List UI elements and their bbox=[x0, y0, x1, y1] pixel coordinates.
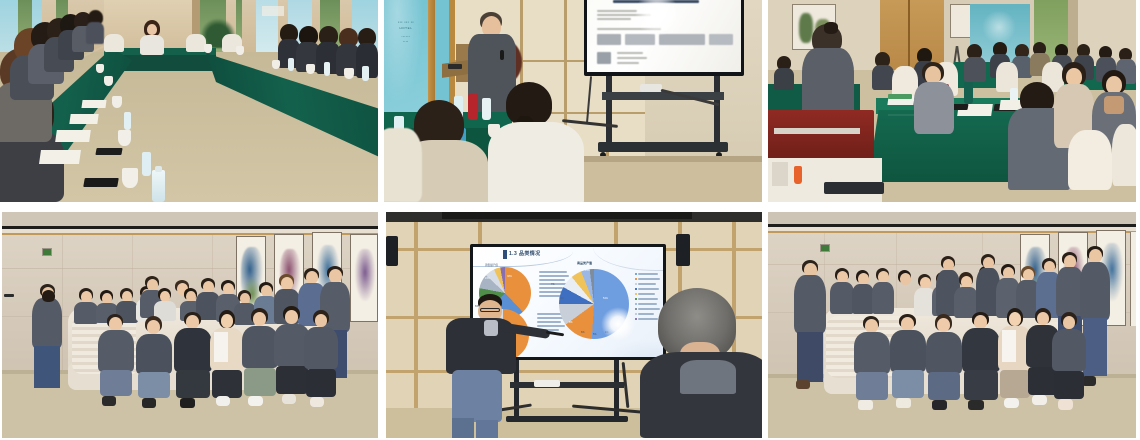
photo-bottom-right[interactable] bbox=[768, 212, 1136, 438]
hotel-sign-text-en: HOTEL bbox=[388, 26, 424, 30]
chart-2-title: 商品类产值 bbox=[577, 261, 592, 265]
photo-gallery: ▪▪▪ ▪▪▪ ▪▪ HOTEL ▪▪▪▪▪▪ ▪▪▪▪ bbox=[0, 0, 1140, 440]
photo-bottom-left[interactable] bbox=[2, 212, 378, 438]
slide-title: 1.3 品类情况 bbox=[509, 250, 541, 257]
photo-top-left[interactable] bbox=[0, 0, 378, 202]
photo-top-right[interactable] bbox=[768, 0, 1136, 202]
chart-1-title: 销售额产值 bbox=[485, 263, 498, 267]
hotel-sign-text-cn: ▪▪▪ ▪▪▪ ▪▪ bbox=[388, 20, 424, 24]
photo-bottom-center[interactable]: 1.3 品类情况 销售额产值 38% 24% 16% 6% bbox=[386, 212, 762, 438]
photo-top-center[interactable]: ▪▪▪ ▪▪▪ ▪▪ HOTEL ▪▪▪▪▪▪ ▪▪▪▪ bbox=[384, 0, 762, 202]
